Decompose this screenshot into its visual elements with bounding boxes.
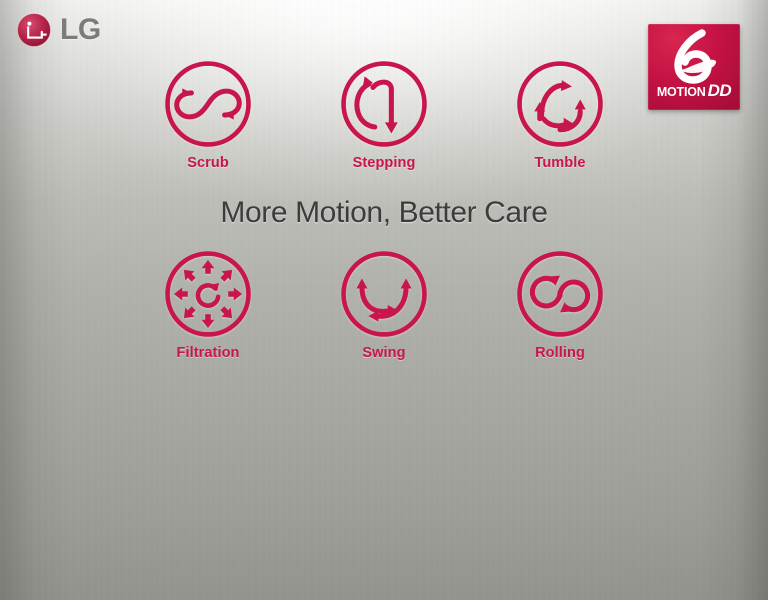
infinity-arrows-icon <box>162 58 254 150</box>
feature-label-filtration: Filtration <box>176 345 239 361</box>
lg-circle-face-icon <box>16 12 52 48</box>
promo-banner: LG MOTION DD Scrub <box>0 0 768 600</box>
feature-label-scrub: Scrub <box>187 155 229 171</box>
feature-label-swing: Swing <box>362 345 405 361</box>
feature-rolling[interactable]: Rolling <box>505 248 615 361</box>
swing-arrows-icon <box>338 248 430 340</box>
feature-tumble[interactable]: Tumble <box>505 58 615 171</box>
feature-stepping[interactable]: Stepping <box>329 58 439 171</box>
rolling-rings-icon <box>514 248 606 340</box>
lg-wordmark: LG <box>60 15 101 45</box>
tumble-arrows-icon <box>514 58 606 150</box>
feature-row-top: Scrub Stepping <box>0 58 768 171</box>
feature-row-bottom: Filtration Swing <box>0 248 768 361</box>
feature-swing[interactable]: Swing <box>329 248 439 361</box>
feature-label-stepping: Stepping <box>353 155 416 171</box>
feature-label-tumble: Tumble <box>534 155 585 171</box>
step-arrow-icon <box>338 58 430 150</box>
feature-label-rolling: Rolling <box>535 345 585 361</box>
feature-filtration[interactable]: Filtration <box>153 248 263 361</box>
headline: More Motion, Better Care <box>0 196 768 230</box>
radiating-arrows-icon <box>162 248 254 340</box>
feature-scrub[interactable]: Scrub <box>153 58 263 171</box>
lg-logo: LG <box>16 12 101 48</box>
